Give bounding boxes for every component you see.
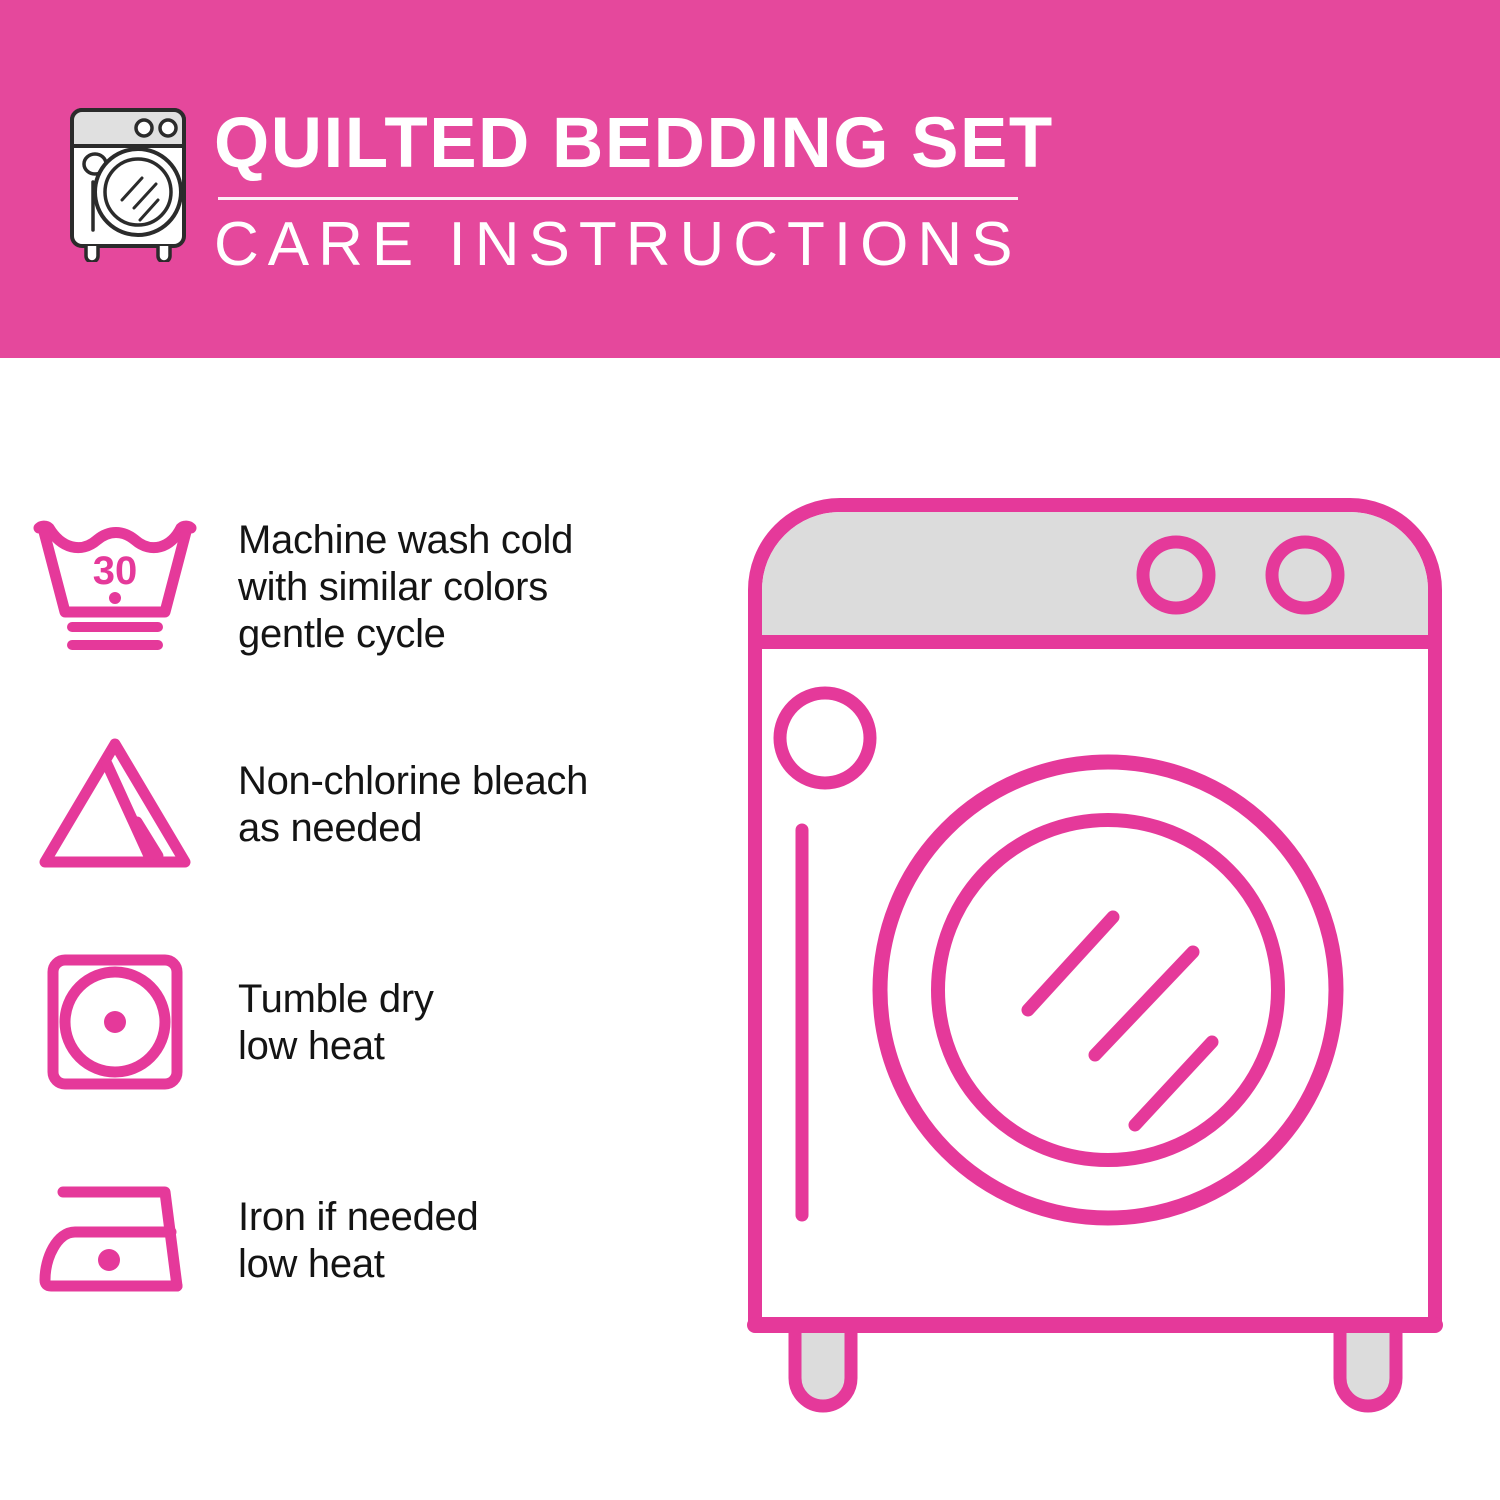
care-instructions-page: QUILTED BEDDING SET CARE INSTRUCTIONS 30 [0,0,1500,1500]
wash-temperature-value: 30 [93,549,138,593]
leg-left [795,1325,851,1406]
washing-machine-icon [66,104,190,262]
non-chlorine-bleach-triangle-icon [0,715,230,895]
door-inner-ring [938,820,1278,1160]
header-band: QUILTED BEDDING SET CARE INSTRUCTIONS [0,0,1500,358]
wash-tub-30-degrees-icon: 30 [0,497,230,677]
front-load-washing-machine-illustration [740,490,1450,1420]
leg-right [1340,1325,1396,1406]
care-row-machine-wash: 30 Machine wash cold with similar colors… [0,478,720,696]
detergent-indicator-circle [780,693,870,783]
iron-low-heat-icon [0,1151,230,1331]
page-title: QUILTED BEDDING SET [214,105,1034,183]
care-label-bleach: Non-chlorine bleach as needed [230,758,588,852]
care-row-iron: Iron if needed low heat [0,1132,720,1350]
care-row-tumble-dry: Tumble dry low heat [0,914,720,1132]
care-label-machine-wash: Machine wash cold with similar colors ge… [230,517,573,658]
care-label-tumble-dry: Tumble dry low heat [230,976,434,1070]
care-instruction-list: 30 Machine wash cold with similar colors… [0,478,720,1350]
tumble-dry-low-heat-icon [0,933,230,1113]
title-divider [218,197,1018,200]
care-row-bleach: Non-chlorine bleach as needed [0,696,720,914]
page-subtitle: CARE INSTRUCTIONS [214,210,1034,280]
care-label-iron: Iron if needed low heat [230,1194,478,1288]
knob-left [1143,542,1209,608]
knob-right [1272,542,1338,608]
header-text-block: QUILTED BEDDING SET CARE INSTRUCTIONS [214,105,1034,280]
